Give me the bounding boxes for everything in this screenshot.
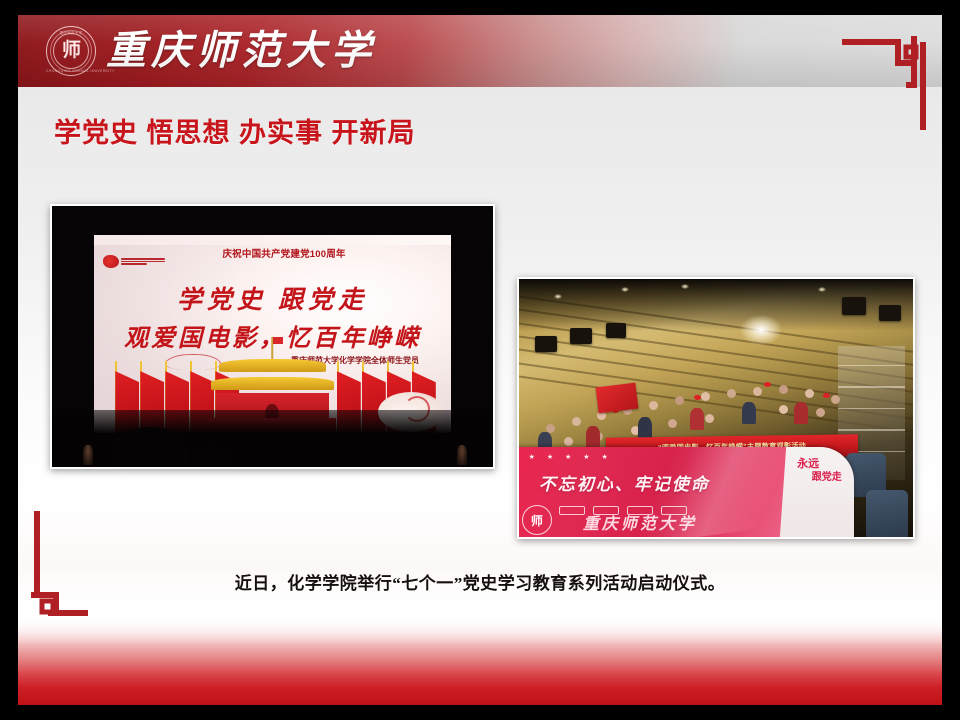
handheld-flag-icon xyxy=(764,382,771,387)
speaker-icon xyxy=(535,336,557,352)
screenshot-stage: 重庆师范大学 师 CHONGQING NORMAL UNIVERSITY 重庆师… xyxy=(0,0,960,720)
banner-bottom-main-text: 不忘初心、牢记使命 xyxy=(539,470,710,495)
projection-screen: 庆祝中国共产党建党100周年 学党史 跟党走 观爱国电影，忆百年峥嵘 ——重庆师… xyxy=(94,235,451,433)
spotlight-icon xyxy=(818,287,826,292)
page-title: 学党史 悟思想 办实事 开新局 xyxy=(54,111,416,150)
university-name: 重庆师范大学 xyxy=(106,23,376,79)
slide-caption: 近日，化学学院举行“七个一”党史学习教育系列活动启动仪式。 xyxy=(18,569,942,594)
cinema-screen-photo: 庆祝中国共产党建党100周年 学党史 跟党走 观爱国电影，忆百年峥嵘 ——重庆师… xyxy=(50,204,495,469)
university-seal-icon: 重庆师范大学 师 CHONGQING NORMAL UNIVERSITY xyxy=(46,26,96,76)
banner-university-seal-icon: 师 xyxy=(522,505,552,535)
large-national-flag-icon xyxy=(596,382,639,413)
presentation-slide: 重庆师范大学 师 CHONGQING NORMAL UNIVERSITY 重庆师… xyxy=(18,15,942,705)
spotlight-icon xyxy=(681,284,689,289)
slide-footer-band xyxy=(18,617,942,705)
seal-top-text: 重庆师范大学 xyxy=(46,30,96,35)
speaker-icon xyxy=(606,323,626,338)
slide-header-band: 重庆师范大学 师 CHONGQING NORMAL UNIVERSITY 重庆师… xyxy=(18,15,942,87)
group-photo: “观爱国电影，忆百年峥嵘”主题教育观影活动 ★ ★ ★ ★ ★ 师 不忘初心、牢… xyxy=(517,277,915,539)
screen-line-1: 学党史 跟党走 xyxy=(94,280,451,316)
banner-bottom-sub-text: 重庆师范大学 xyxy=(583,510,697,534)
screen-top-strip xyxy=(94,235,451,245)
anniversary-emblem-icon xyxy=(103,245,185,279)
speaker-icon xyxy=(842,297,866,315)
handheld-flag-icon xyxy=(694,395,701,400)
banner-stars-icon: ★ ★ ★ ★ ★ xyxy=(529,453,613,461)
audience-silhouettes xyxy=(52,410,493,467)
screen-headline: 庆祝中国共产党建党100周年 xyxy=(222,246,345,260)
speaker-icon xyxy=(879,305,901,321)
speaker-icon xyxy=(570,328,592,344)
event-banner-bottom: ★ ★ ★ ★ ★ 师 不忘初心、牢记使命 重庆师范大学 永远 跟党走 xyxy=(517,447,854,537)
seal-bottom-text: CHONGQING NORMAL UNIVERSITY xyxy=(46,69,96,73)
handheld-flag-icon xyxy=(823,393,830,398)
banner-right-line-1: 永远 xyxy=(779,458,837,470)
seal-glyph: 师 xyxy=(62,41,80,60)
projector-light xyxy=(740,315,782,345)
banner-right-line-2: 跟党走 xyxy=(803,472,850,483)
